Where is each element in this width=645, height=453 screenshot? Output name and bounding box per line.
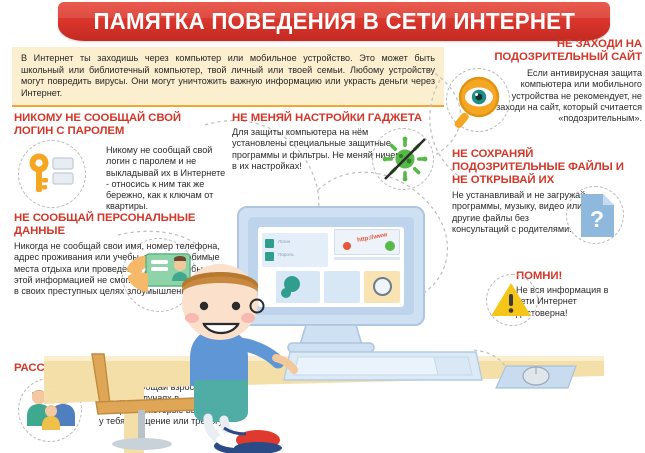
block-settings-heading: НЕ МЕНЯЙ НАСТРОЙКИ ГАДЖЕТА [232,112,422,125]
block-personal-heading: НЕ СООБЩАЙ ПЕРСОНАЛЬНЫЕ ДАННЫЕ [14,212,230,238]
password-label: Пароль [278,252,294,257]
lock-icon [265,252,274,261]
infographic-page: ПАМЯТКА ПОВЕДЕНИЯ В СЕТИ ИНТЕРНЕТ В Инте… [0,0,645,453]
block-login-heading: НИКОМУ НЕ СООБЩАЙ СВОЙ ЛОГИН С ПАРОЛЕМ [14,112,219,138]
block-login-body: Никому не сообщай свой логин с паролем и… [106,145,226,213]
user-icon [265,239,274,248]
block-files-heading: НЕ СОХРАНЯЙ ПОДОЗРИТЕЛЬНЫЕ ФАЙЛЫ И НЕ ОТ… [452,148,642,187]
boy-illustration [152,262,332,453]
login-label: Логин [278,239,290,244]
unknown-file-icon: ? [578,192,618,240]
block-site-heading: НЕ ЗАХОДИ НА ПОДОЗРИТЕЛЬНЫЙ САЙТ [452,38,642,64]
magnifier-icon [373,277,392,296]
block-suspicious-site: НЕ ЗАХОДИ НА ПОДОЗРИТЕЛЬНЫЙ САЙТ Если ан… [452,38,642,64]
svg-text:?: ? [590,206,604,232]
page-title: ПАМЯТКА ПОВЕДЕНИЯ В СЕТИ ИНТЕРНЕТ [93,8,575,35]
browser-panel: http://www [334,229,400,255]
url-text: http://www [357,232,388,244]
magnifier-eye-icon [450,72,508,130]
virus-blocked-icon [382,136,428,182]
header-banner: ПАМЯТКА ПОВЕДЕНИЯ В СЕТИ ИНТЕРНЕТ [58,2,610,41]
browser-underline [334,257,400,260]
key-icon [26,152,80,196]
warning-triangle-icon [489,281,533,319]
blocked-link-icon [343,242,351,250]
block-login-password: НИКОМУ НЕ СООБЩАЙ СВОЙ ЛОГИН С ПАРОЛЕМ Н… [14,112,226,138]
mouse-and-pad [472,346,582,396]
magnifier-tile [364,271,400,303]
block-remember-heading: ПОМНИ! [516,270,642,283]
virus-icon [385,241,395,251]
